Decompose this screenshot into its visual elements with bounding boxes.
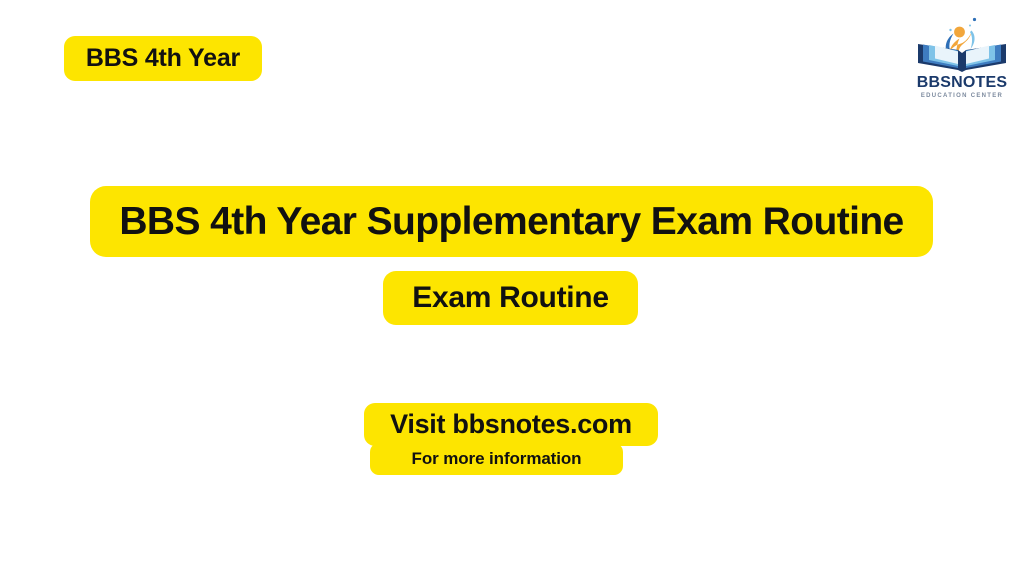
poster-canvas: BBS 4th Year <box>0 0 1024 576</box>
brand-logo[interactable]: BBSNOTES EDUCATION CENTER <box>910 14 1014 102</box>
visit-website-label[interactable]: Visit bbsnotes.com <box>364 403 658 446</box>
logo-wordmark: BBSNOTES <box>910 74 1014 91</box>
more-information-label: For more information <box>370 443 623 475</box>
page-subtitle: Exam Routine <box>383 271 638 325</box>
category-badge: BBS 4th Year <box>64 36 262 81</box>
page-title: BBS 4th Year Supplementary Exam Routine <box>90 186 933 257</box>
logo-tagline: EDUCATION CENTER <box>910 92 1014 100</box>
open-book-with-person-icon <box>910 14 1014 72</box>
